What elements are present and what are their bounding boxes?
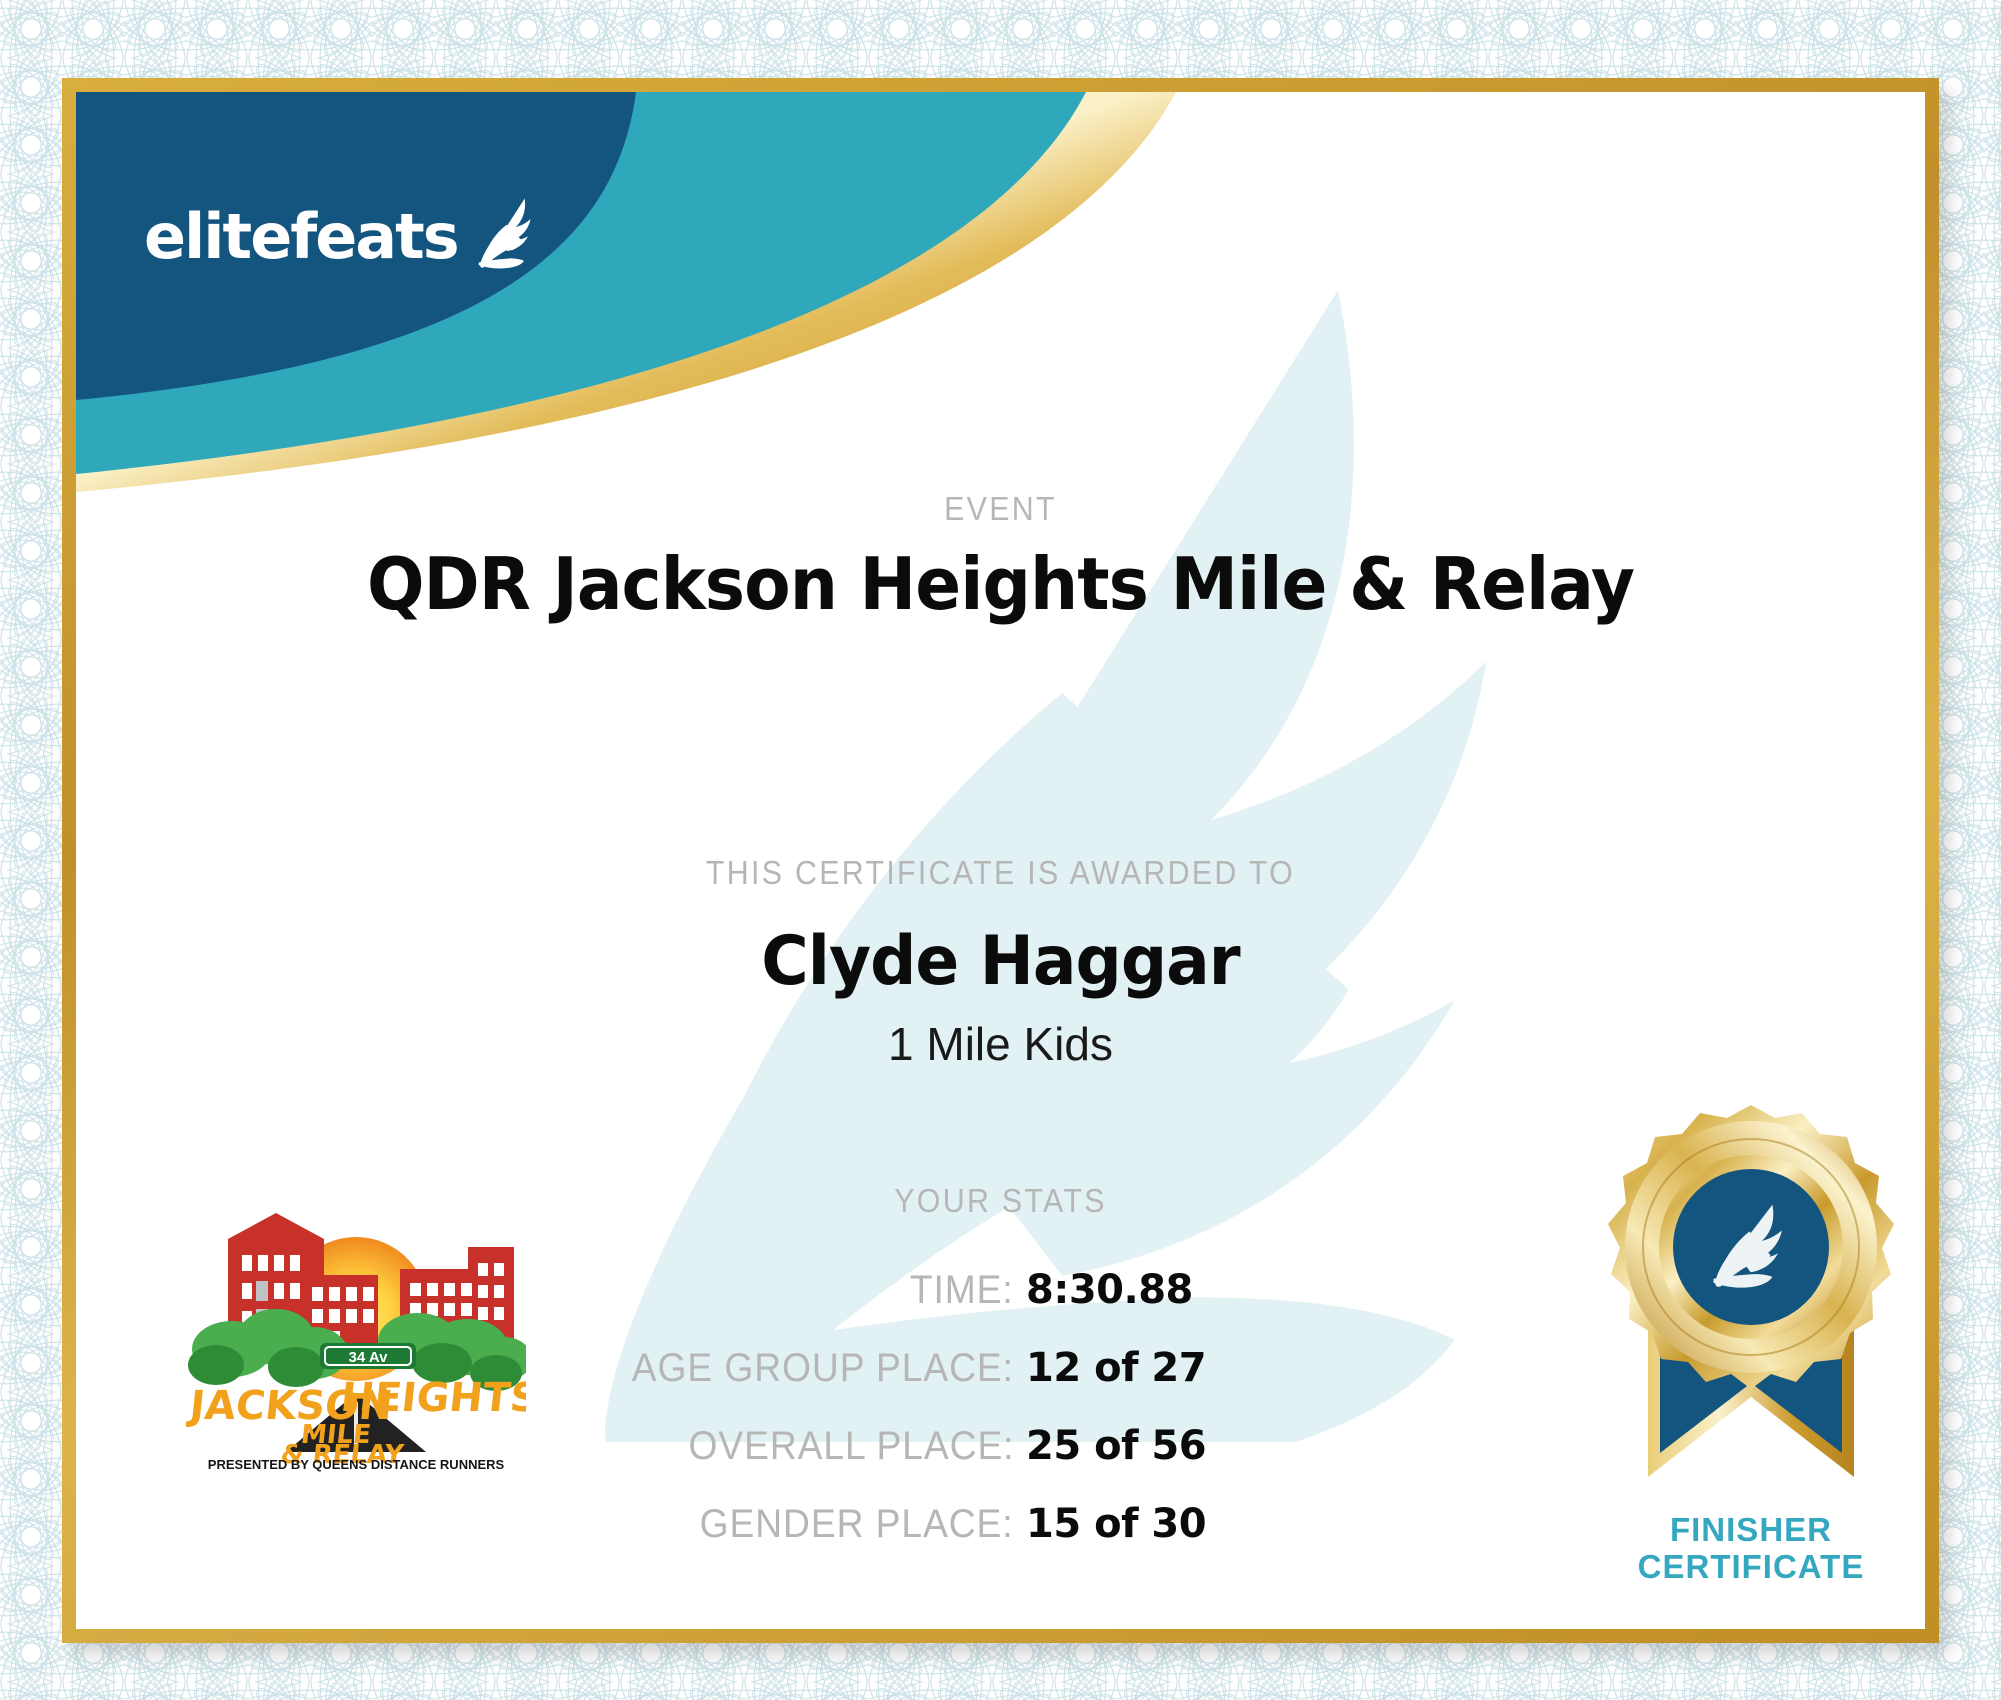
stat-label-age-group-place: AGE GROUP PLACE: — [632, 1346, 1014, 1391]
stat-label-gender-place: GENDER PLACE: — [700, 1502, 1014, 1547]
street-sign-text: 34 Av — [349, 1349, 389, 1366]
brand-wordmark: elitefeats — [144, 206, 458, 268]
recipient-division: 1 Mile Kids — [76, 1017, 1925, 1071]
stat-value-gender-place: 15 of 30 — [1026, 1501, 1256, 1547]
recipient-name: Clyde Haggar — [122, 922, 1879, 1001]
stat-value-time: 8:30.88 — [1026, 1267, 1256, 1313]
finisher-certificate-caption: FINISHER CERTIFICATE — [1556, 1512, 1925, 1586]
brand-logo: elitefeats — [144, 192, 546, 268]
race-event-logo: 34 Av JACKSON HEIGHTS MILE & RELAY PRESE… — [186, 1197, 526, 1472]
certificate-content: EVENT QDR Jackson Heights Mile & Relay T… — [76, 92, 1925, 1629]
finisher-caption-line1: FINISHER — [1556, 1512, 1925, 1549]
stat-value-age-group-place: 12 of 27 — [1026, 1345, 1256, 1391]
stat-row-gender-place: GENDER PLACE: 15 of 30 — [76, 1501, 1256, 1553]
finisher-medal-badge: 2025 — [1556, 1097, 1925, 1507]
gold-border-frame: elitefeats — [62, 78, 1939, 1643]
event-kicker-label: EVENT — [150, 490, 1851, 528]
event-title: QDR Jackson Heights Mile & Relay — [131, 542, 1869, 626]
certificate-card: elitefeats — [76, 92, 1925, 1629]
street-sign: 34 Av — [320, 1343, 416, 1369]
winged-foot-icon — [464, 192, 546, 274]
stat-label-time: TIME: — [910, 1268, 1014, 1313]
stat-value-overall-place: 25 of 56 — [1026, 1423, 1256, 1469]
awarded-to-label: THIS CERTIFICATE IS AWARDED TO — [150, 854, 1851, 892]
stat-label-overall-place: OVERALL PLACE: — [688, 1424, 1014, 1469]
finisher-caption-line2: CERTIFICATE — [1556, 1549, 1925, 1586]
logo-tagline: PRESENTED BY QUEENS DISTANCE RUNNERS — [208, 1457, 505, 1472]
logo-line-heights: HEIGHTS — [338, 1375, 526, 1421]
certificate-page: elitefeats — [0, 0, 2001, 1700]
